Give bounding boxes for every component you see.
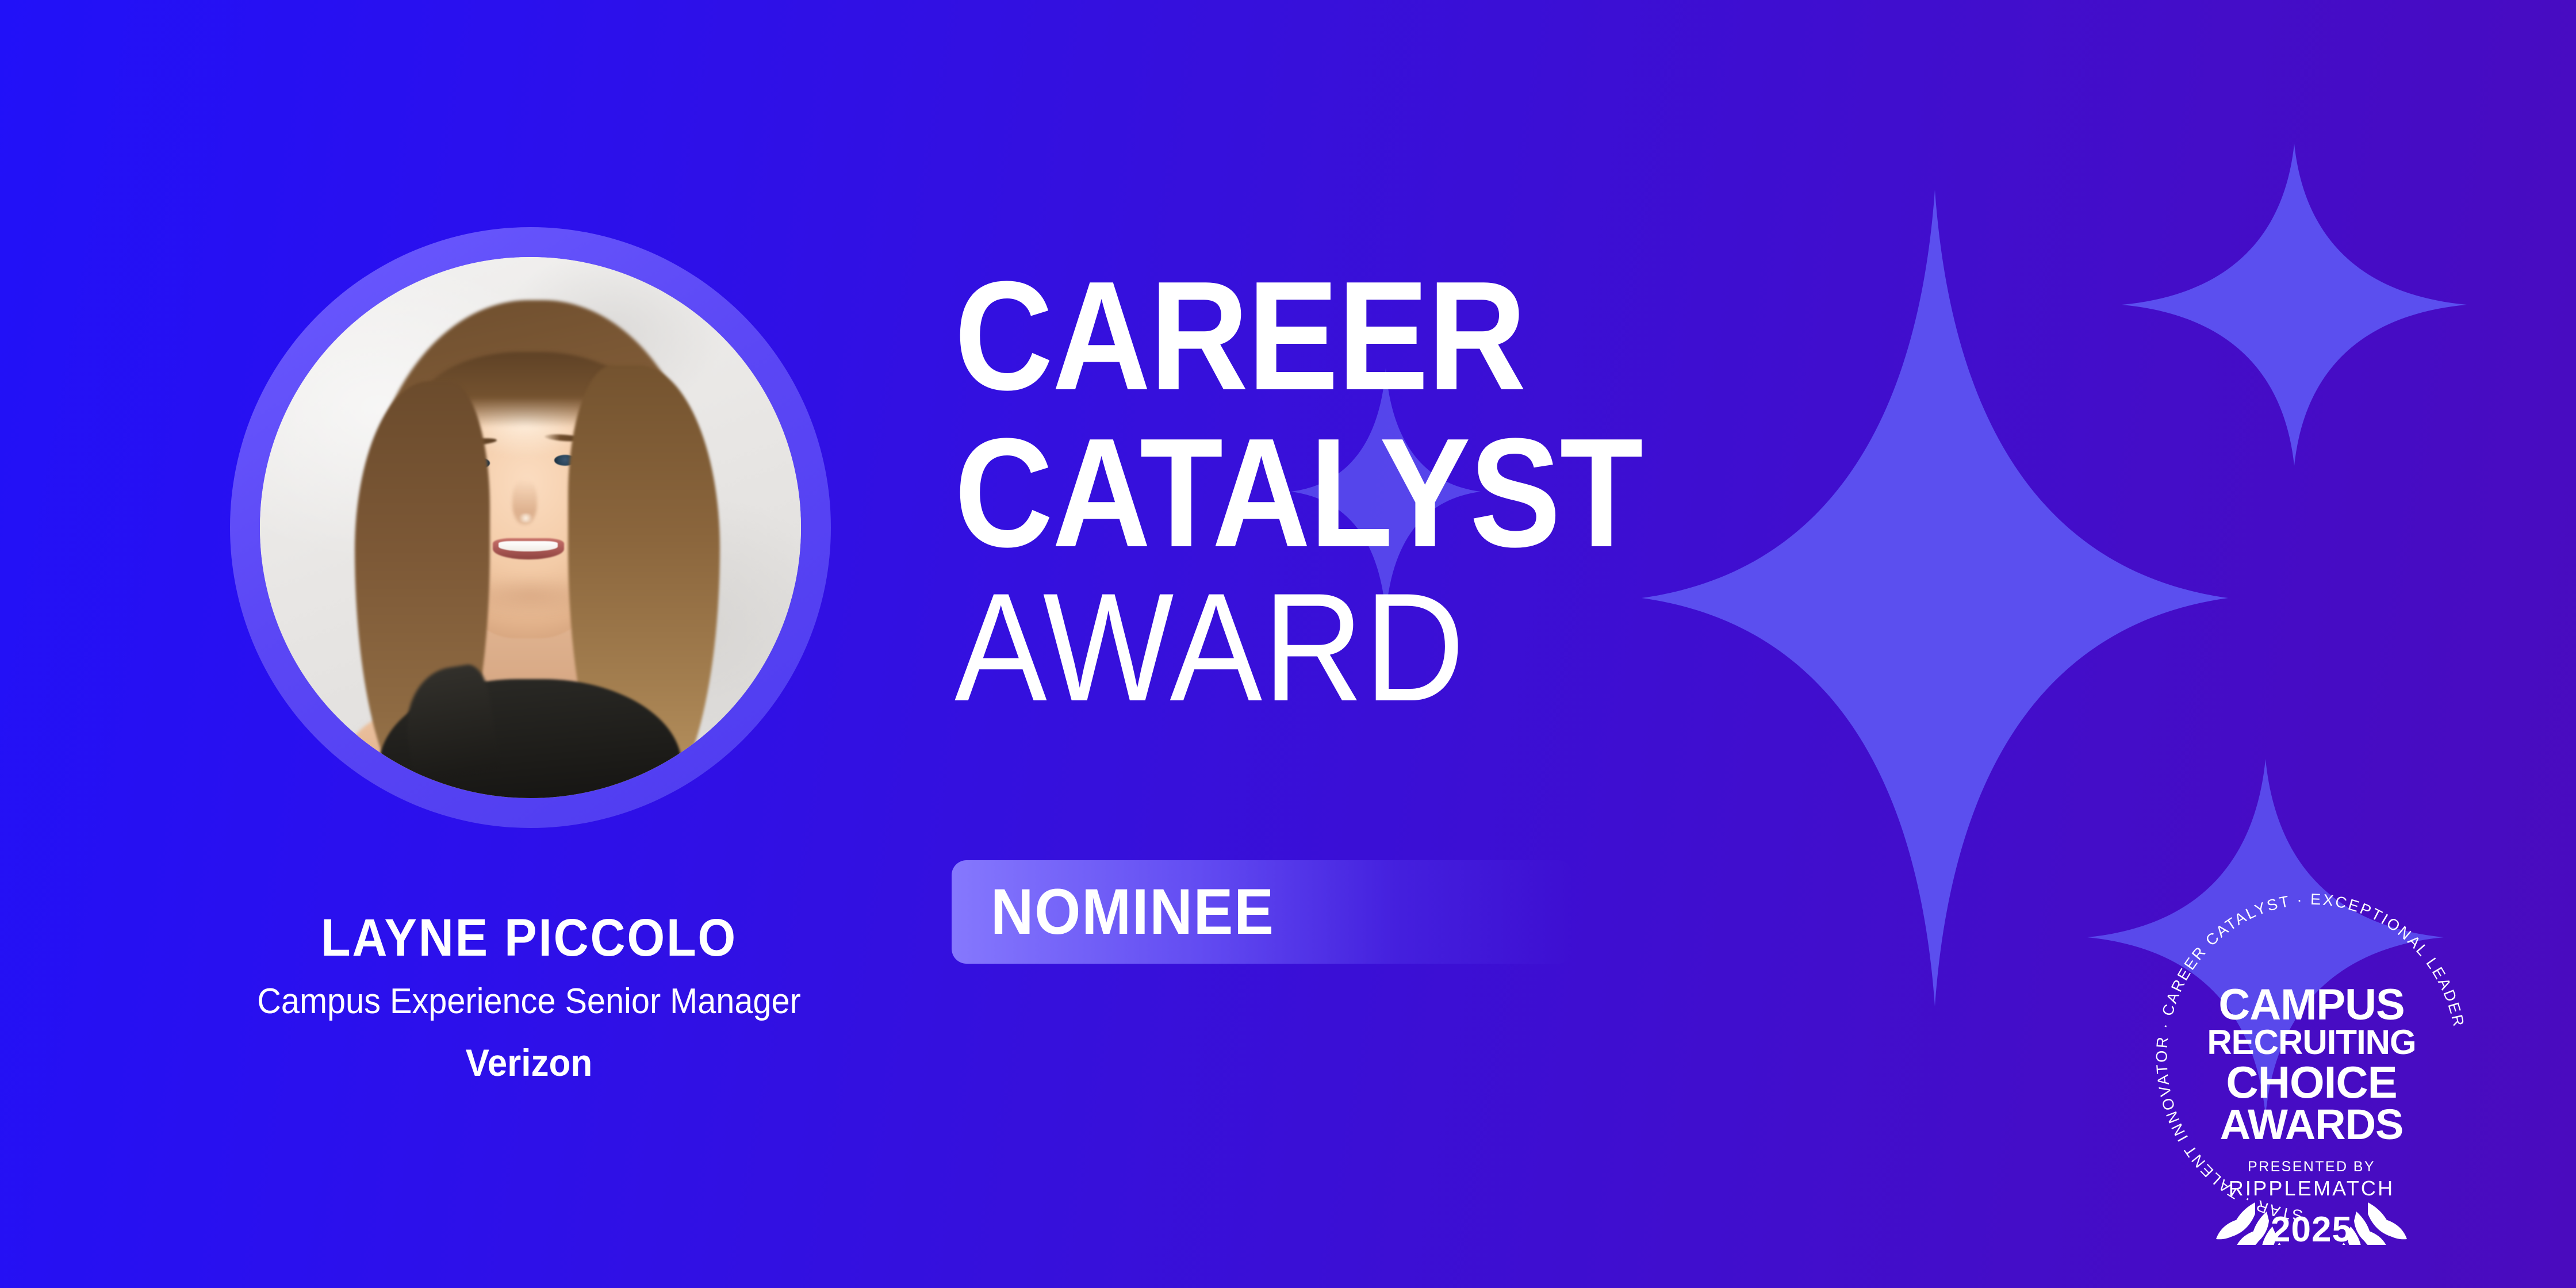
avatar-photo bbox=[260, 257, 801, 798]
seal-sponsor: RIPPLEMATCH bbox=[2229, 1176, 2395, 1200]
award-banner: LAYNE PICCOLO Campus Experience Senior M… bbox=[0, 0, 2576, 1288]
award-title-line-1: CAREER bbox=[954, 262, 2017, 411]
award-title-block: CAREER CATALYST AWARD bbox=[954, 262, 2162, 722]
seal-presented-by: PRESENTED BY bbox=[2248, 1159, 2375, 1175]
award-seal-logo: PATHFINDER · RISING STAR · TALENT INNOVA… bbox=[2122, 888, 2501, 1245]
nominee-caption: LAYNE PICCOLO Campus Experience Senior M… bbox=[63, 911, 995, 1082]
seal-line-2: RECRUITING bbox=[2207, 1023, 2416, 1061]
photo-nose-highlight bbox=[517, 513, 534, 523]
sparkle-medium-top-right bbox=[2122, 144, 2467, 466]
status-badge: NOMINEE bbox=[952, 860, 1573, 964]
person-title: Campus Experience Senior Manager bbox=[96, 984, 963, 1019]
photo-teeth bbox=[499, 541, 558, 551]
person-name: LAYNE PICCOLO bbox=[101, 911, 957, 964]
seal-line-4: AWARDS bbox=[2220, 1101, 2403, 1148]
person-company: Verizon bbox=[91, 1044, 967, 1082]
seal-line-1: CAMPUS bbox=[2218, 980, 2404, 1029]
seal-line-3: CHOICE bbox=[2226, 1057, 2397, 1107]
avatar bbox=[230, 227, 831, 828]
status-badge-label: NOMINEE bbox=[991, 880, 1275, 944]
seal-year: 2025 bbox=[2271, 1210, 2352, 1245]
award-title-line-2: CATALYST bbox=[954, 419, 2017, 568]
seal-wordmark: CAMPUS RECRUITING CHOICE AWARDS bbox=[2207, 980, 2416, 1148]
award-title-line-3: AWARD bbox=[954, 573, 2041, 721]
